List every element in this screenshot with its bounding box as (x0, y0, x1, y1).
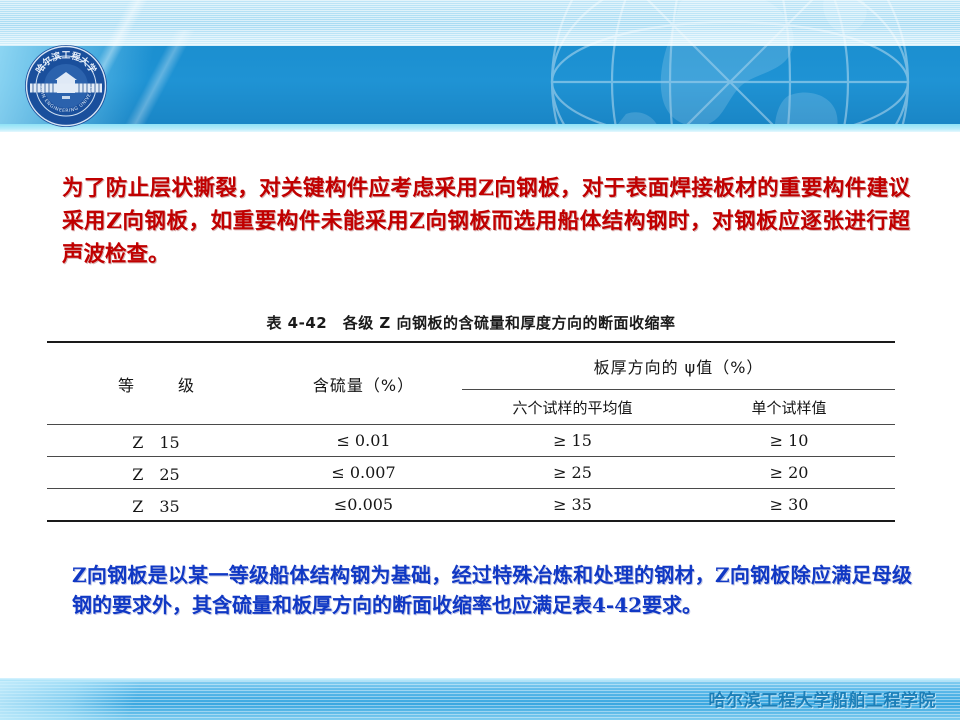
slide-header-banner (0, 0, 960, 132)
cell-grade: Z 35 (47, 489, 265, 522)
cell-sulfur: ≤ 0.007 (265, 457, 462, 489)
blue-body-paragraph: Z向钢板是以某一等级船体结构钢为基础，经过特殊冶炼和处理的钢材，Z向钢板除应满足… (72, 560, 912, 620)
cell-psi-single: ≥ 30 (683, 489, 895, 522)
cell-psi-average: ≥ 35 (462, 489, 683, 522)
header-bottom-cyan-stripe (0, 124, 960, 132)
header-cell-psi-average: 六个试样的平均值 (462, 390, 683, 425)
footer-top-highlight-line (0, 678, 960, 681)
cell-grade: Z 25 (47, 457, 265, 489)
university-seal-logo-icon: 哈尔滨工程大学 HARBIN ENGINEERING UNIVERSITY (24, 44, 108, 128)
cell-psi-single: ≥ 20 (683, 457, 895, 489)
header-cell-psi-single: 单个试样值 (683, 390, 895, 425)
steel-grade-table-block: 表 4-42 各级 Z 向钢板的含硫量和厚度方向的断面收缩率 等 级 含硫量（%… (47, 312, 895, 522)
table-caption: 表 4-42 各级 Z 向钢板的含硫量和厚度方向的断面收缩率 (47, 312, 895, 341)
footer-left-wedge (0, 678, 260, 720)
steel-grade-table: 等 级 含硫量（%） 板厚方向的 ψ值（%） 六个试样的平均值 单个试样值 Z … (47, 341, 895, 522)
slide-canvas: 哈尔滨工程大学 HARBIN ENGINEERING UNIVERSITY 为了… (0, 0, 960, 720)
slide-footer-banner: 哈尔滨工程大学船舶工程学院 (0, 678, 960, 720)
header-cell-sulfur: 含硫量（%） (265, 342, 462, 425)
cell-psi-single: ≥ 10 (683, 425, 895, 457)
cell-sulfur: ≤0.005 (265, 489, 462, 522)
header-cell-grade: 等 级 (47, 342, 265, 425)
header-cell-psi-group: 板厚方向的 ψ值（%） (462, 342, 895, 390)
footer-institution-label: 哈尔滨工程大学船舶工程学院 (709, 686, 937, 711)
table-header-row-main: 等 级 含硫量（%） 板厚方向的 ψ值（%） (47, 342, 895, 390)
header-top-stripe-band (0, 0, 960, 46)
cell-psi-average: ≥ 15 (462, 425, 683, 457)
red-body-paragraph: 为了防止层状撕裂，对关键构件应考虑采用Z向钢板，对于表面焊接板材的重要构件建议采… (62, 172, 910, 271)
table-row: Z 15 ≤ 0.01 ≥ 15 ≥ 10 (47, 425, 895, 457)
table-row: Z 35 ≤0.005 ≥ 35 ≥ 30 (47, 489, 895, 522)
cell-grade: Z 15 (47, 425, 265, 457)
cell-sulfur: ≤ 0.01 (265, 425, 462, 457)
header-blue-band (0, 46, 960, 124)
cell-psi-average: ≥ 25 (462, 457, 683, 489)
table-row: Z 25 ≤ 0.007 ≥ 25 ≥ 20 (47, 457, 895, 489)
